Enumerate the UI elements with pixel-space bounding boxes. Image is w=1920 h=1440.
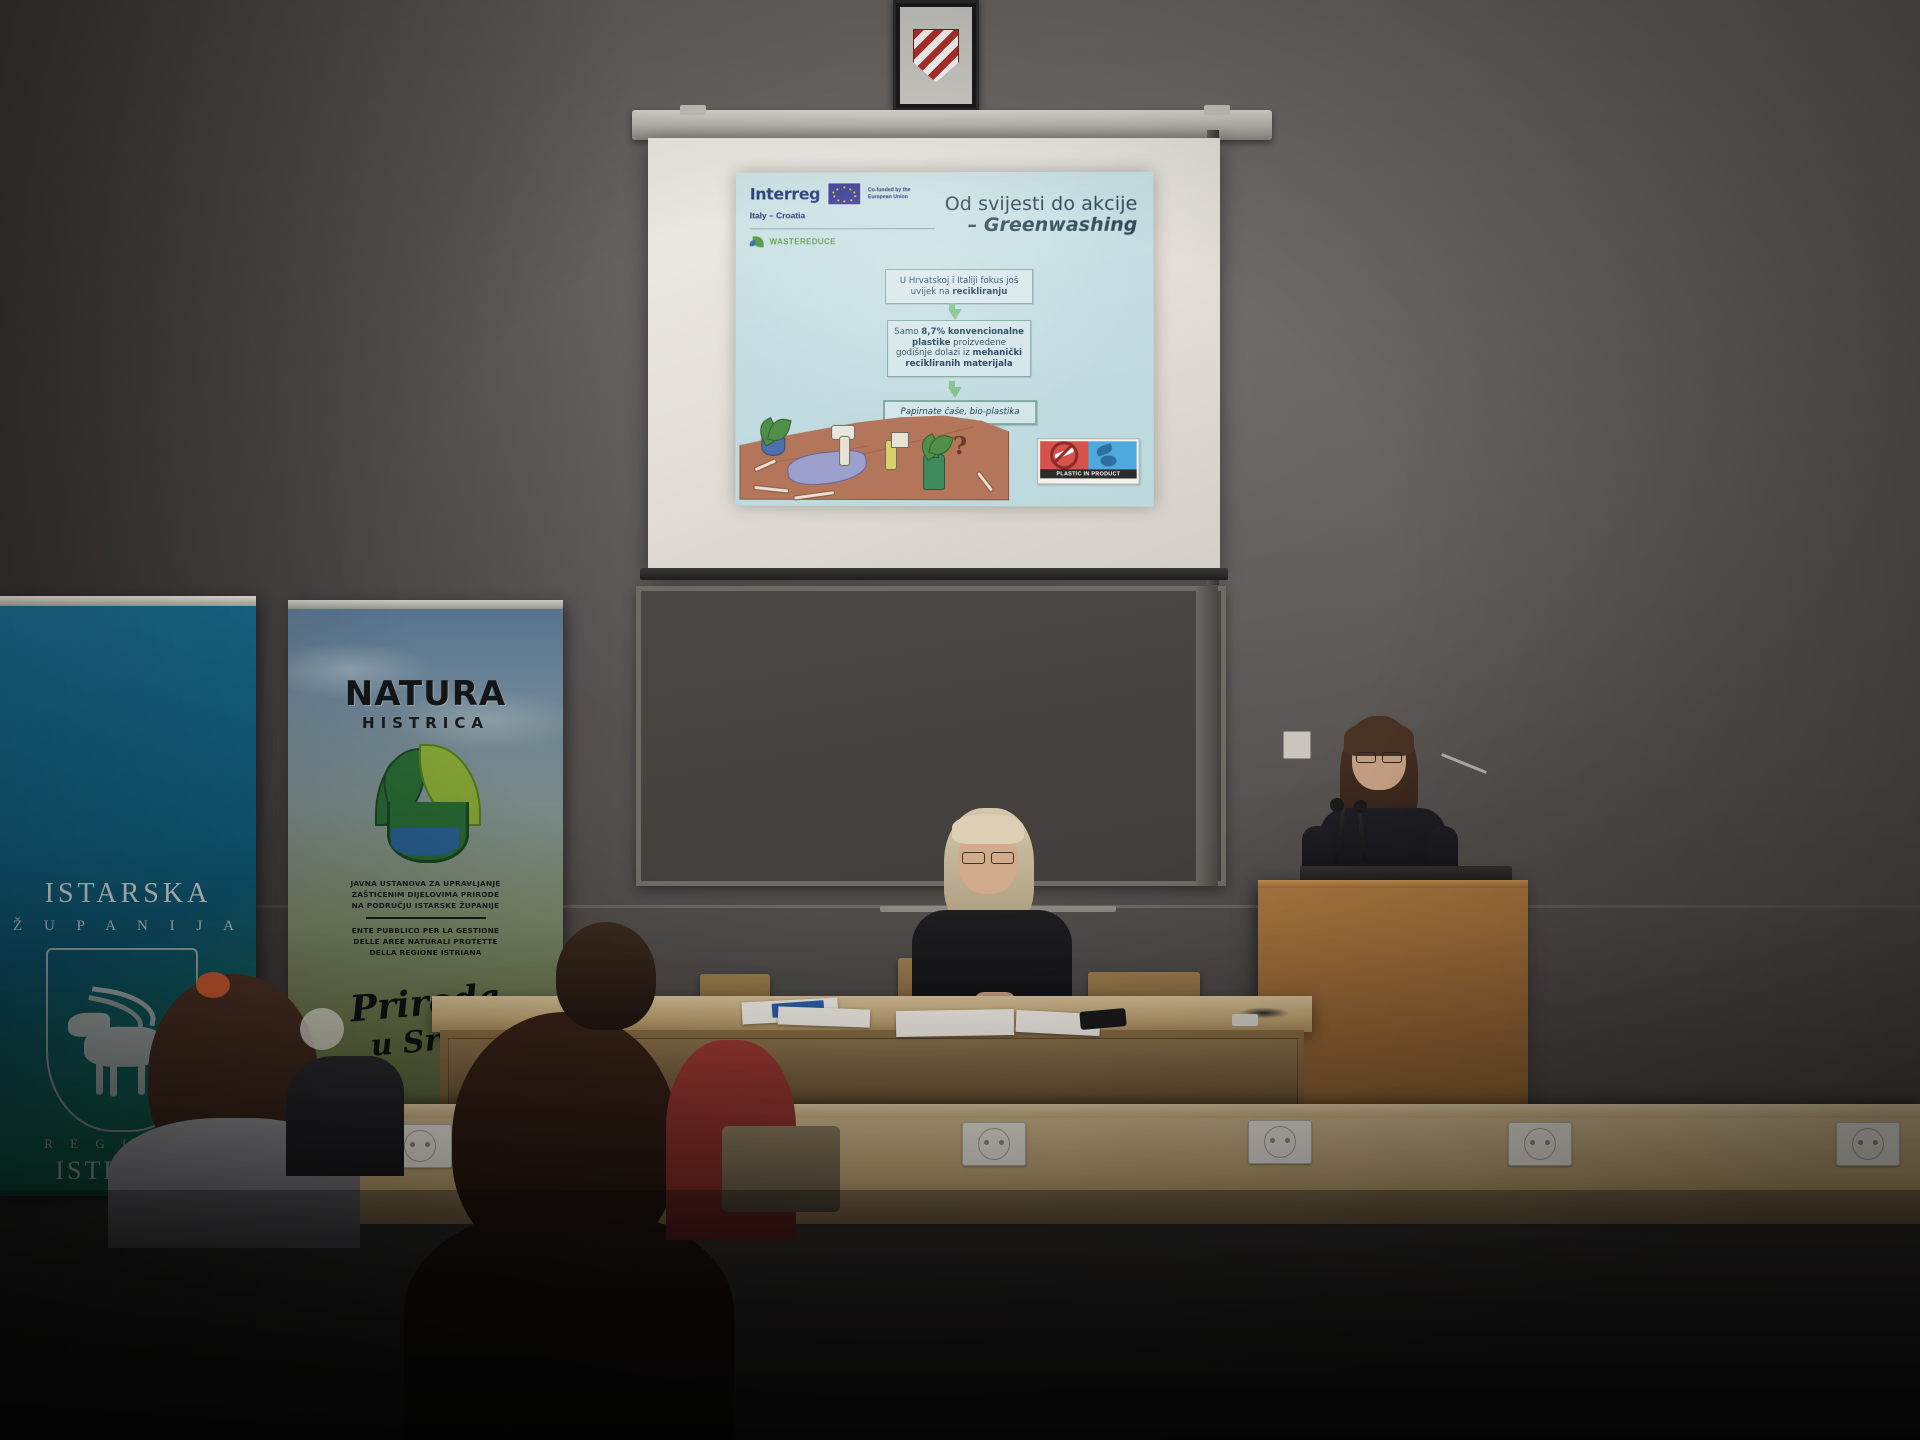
landfill-illustration: ? — [735, 388, 1023, 507]
projection-screen-housing — [632, 110, 1272, 140]
foreground-shadow — [0, 1190, 1920, 1440]
microphone-head-1 — [1330, 798, 1344, 812]
flow-box-2-text-a: Samo — [894, 327, 921, 337]
croatian-coat-of-arms-frame — [893, 0, 979, 111]
slide-title: Od svijesti do akcije – Greenwashing — [907, 194, 1137, 237]
project-logo-row: WASTEREDUCE — [750, 236, 939, 247]
badge-pictograms — [1040, 441, 1136, 469]
speaker-glasses-icon — [1356, 752, 1402, 761]
microphone-head-2 — [1354, 800, 1367, 813]
flow-box-1-text-b: recikliranju — [952, 287, 1007, 297]
projected-slide: Interreg Co-funded by the European Union… — [735, 172, 1153, 507]
lectern-top-edge — [1258, 880, 1528, 888]
flow-box-2: Samo 8,7% konvencionalne plastike proizv… — [887, 320, 1031, 377]
presentation-room-photo: Interreg Co-funded by the European Union… — [0, 0, 1920, 1440]
leaf-icon — [750, 236, 765, 247]
eu-stars — [828, 183, 860, 204]
eu-flag-icon — [827, 182, 861, 205]
arrow-1-icon — [948, 309, 962, 320]
speaker-hair-front — [1344, 722, 1414, 756]
interreg-wordmark: Interreg — [750, 186, 820, 202]
screen-bracket-right — [1204, 105, 1230, 115]
sign-icon — [891, 432, 909, 448]
plastic-in-product-badge: PLASTIC IN PRODUCT — [1037, 438, 1140, 484]
slide-title-line1: Od svijesti do akcije — [907, 194, 1137, 215]
project-name: WASTEREDUCE — [770, 237, 836, 246]
screen-bottom-bar — [640, 568, 1228, 580]
no-plastic-panel — [1040, 441, 1088, 469]
badge-label: PLASTIC IN PRODUCT — [1040, 469, 1136, 478]
moderator-glasses-icon — [962, 852, 1014, 862]
marine-life-panel — [1088, 441, 1136, 469]
flow-box-1: U Hrvatskoj i Italiji fokus još uvijek n… — [885, 269, 1033, 305]
prohibition-icon — [1050, 441, 1078, 469]
question-mark: ? — [953, 431, 967, 460]
screen-bracket-left — [680, 105, 706, 115]
fish-icon — [1095, 443, 1113, 457]
stick-figure — [839, 436, 850, 466]
moderator-hair-part — [952, 814, 1024, 844]
slide-title-line2: – Greenwashing — [907, 215, 1137, 237]
turtle-icon — [1100, 455, 1116, 466]
whiteboard-side-frame — [1196, 586, 1218, 886]
